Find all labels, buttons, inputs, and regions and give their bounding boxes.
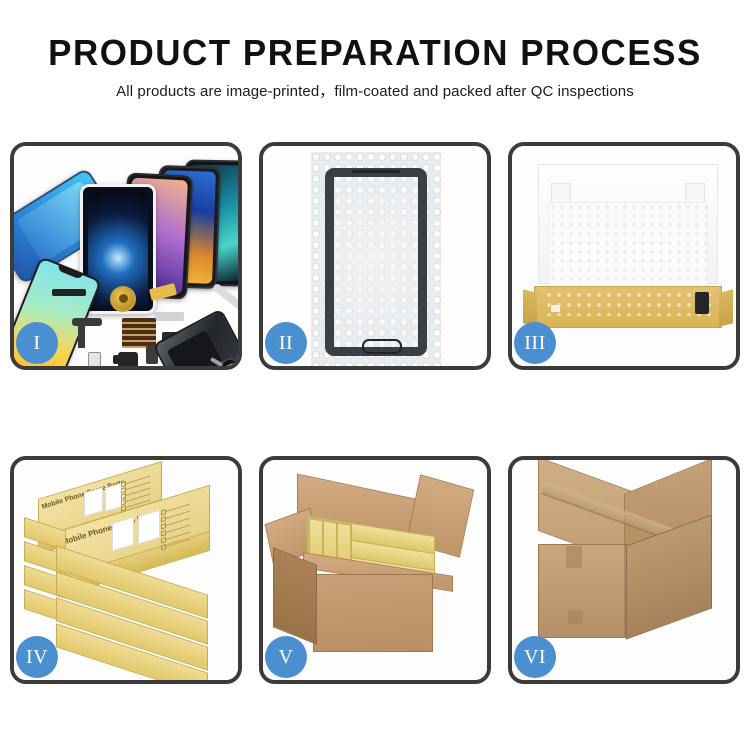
process-step-6: VI bbox=[508, 456, 740, 684]
part-coil-icon bbox=[110, 286, 136, 312]
step-badge-6: VI bbox=[514, 636, 556, 678]
carton-tab-lower bbox=[568, 610, 583, 624]
step-badge-5: V bbox=[265, 636, 307, 678]
screen-glass-icon bbox=[325, 168, 427, 356]
carton-tab-upper bbox=[566, 546, 582, 568]
step-panel: 256 GB bbox=[10, 142, 242, 370]
step-badge-3: III bbox=[514, 322, 556, 364]
foam-padding-icon bbox=[548, 202, 708, 290]
step-panel: V bbox=[259, 456, 491, 684]
process-step-1: 256 GB bbox=[10, 142, 242, 370]
part-connector-icon bbox=[154, 312, 184, 321]
part-flex-cable-icon bbox=[72, 318, 102, 326]
step-panel: VI bbox=[508, 456, 740, 684]
part-speaker-icon bbox=[52, 289, 86, 296]
process-step-4: Mobile Phone Spare Parts bbox=[10, 456, 242, 684]
box-stack-icon: Mobile Phone Spare Parts bbox=[20, 478, 238, 670]
product-preparation-infographic: PRODUCT PREPARATION PROCESS All products… bbox=[0, 0, 750, 750]
process-step-2: II bbox=[259, 142, 491, 370]
wrapped-screen-inside-icon bbox=[543, 290, 713, 316]
part-chip-grid-icon bbox=[122, 318, 156, 348]
carton-side-face bbox=[273, 547, 317, 645]
process-step-3: III bbox=[508, 142, 740, 370]
header: PRODUCT PREPARATION PROCESS All products… bbox=[0, 0, 750, 102]
carton-front-face bbox=[313, 574, 433, 652]
repair-tool-icon bbox=[212, 283, 238, 314]
step-panel: II bbox=[259, 142, 491, 370]
part-sim-tray-icon bbox=[88, 352, 101, 366]
process-steps-grid: 256 GB bbox=[10, 142, 740, 684]
part-camera-icon bbox=[118, 352, 138, 366]
part-screws-icon bbox=[210, 358, 238, 366]
step-panel: Mobile Phone Spare Parts bbox=[10, 456, 242, 684]
step-badge-1: I bbox=[16, 322, 58, 364]
carton-corner-seam bbox=[624, 544, 626, 636]
carton-front-face bbox=[538, 544, 628, 638]
bubble-wrap-icon bbox=[311, 152, 441, 366]
process-step-5: V bbox=[259, 456, 491, 684]
step-panel: III bbox=[508, 142, 740, 370]
step-badge-2: II bbox=[265, 322, 307, 364]
page-subtitle: All products are image-printed，film-coat… bbox=[0, 82, 750, 102]
step-badge-4: IV bbox=[16, 636, 58, 678]
page-title: PRODUCT PREPARATION PROCESS bbox=[11, 33, 739, 73]
kraft-box-base-icon bbox=[534, 286, 722, 328]
